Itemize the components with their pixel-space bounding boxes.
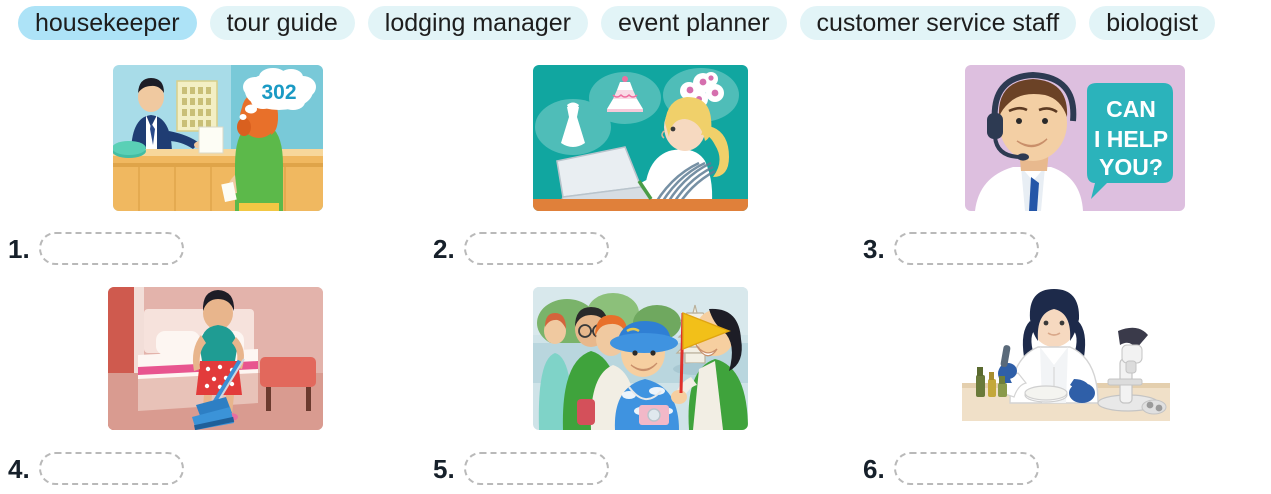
word-chip-tour-guide[interactable]: tour guide bbox=[210, 6, 355, 40]
picture-3-call-center-agent-scene: CAN I HELP YOU? CAN I HELP YOU? bbox=[965, 65, 1185, 211]
picture-6-laboratory-scientist-scene bbox=[962, 287, 1170, 430]
svg-text:YOU?: YOU? bbox=[1099, 154, 1163, 180]
answer-blank-2[interactable] bbox=[464, 232, 609, 265]
answer-blank-5[interactable] bbox=[464, 452, 609, 485]
word-chip-customer-service-staff[interactable]: customer service staff bbox=[800, 6, 1077, 40]
picture-2-wedding-planner-scene bbox=[533, 65, 748, 211]
word-chip-biologist[interactable]: biologist bbox=[1089, 6, 1215, 40]
answer-row-1: 1. bbox=[8, 232, 184, 265]
word-chip-event-planner[interactable]: event planner bbox=[601, 6, 787, 40]
answer-row-5: 5. bbox=[433, 452, 609, 485]
answer-number-6: 6. bbox=[863, 456, 885, 482]
answer-number-4: 4. bbox=[8, 456, 30, 482]
answer-row-4: 4. bbox=[8, 452, 184, 485]
word-chip-lodging-manager[interactable]: lodging manager bbox=[368, 6, 588, 40]
answer-blank-6[interactable] bbox=[894, 452, 1039, 485]
answer-row-2: 2. bbox=[433, 232, 609, 265]
answer-row-3: 3. bbox=[863, 232, 1039, 265]
word-bank: housekeeper tour guide lodging manager e… bbox=[0, 4, 1271, 42]
answer-number-5: 5. bbox=[433, 456, 455, 482]
picture-5-tour-guide-scene bbox=[533, 287, 748, 430]
svg-text:I HELP: I HELP bbox=[1094, 126, 1168, 152]
answer-number-1: 1. bbox=[8, 236, 30, 262]
svg-text:CAN: CAN bbox=[1106, 96, 1156, 122]
picture-4-housekeeping-vacuum-scene bbox=[108, 287, 323, 430]
answer-row-6: 6. bbox=[863, 452, 1039, 485]
answer-blank-1[interactable] bbox=[39, 232, 184, 265]
word-chip-housekeeper[interactable]: housekeeper bbox=[18, 6, 197, 40]
picture-1-caption: 302 bbox=[261, 81, 296, 104]
answer-blank-4[interactable] bbox=[39, 452, 184, 485]
answer-number-2: 2. bbox=[433, 236, 455, 262]
answer-blank-3[interactable] bbox=[894, 232, 1039, 265]
answer-number-3: 3. bbox=[863, 236, 885, 262]
picture-1-hotel-reception-scene: 302 bbox=[113, 65, 323, 211]
